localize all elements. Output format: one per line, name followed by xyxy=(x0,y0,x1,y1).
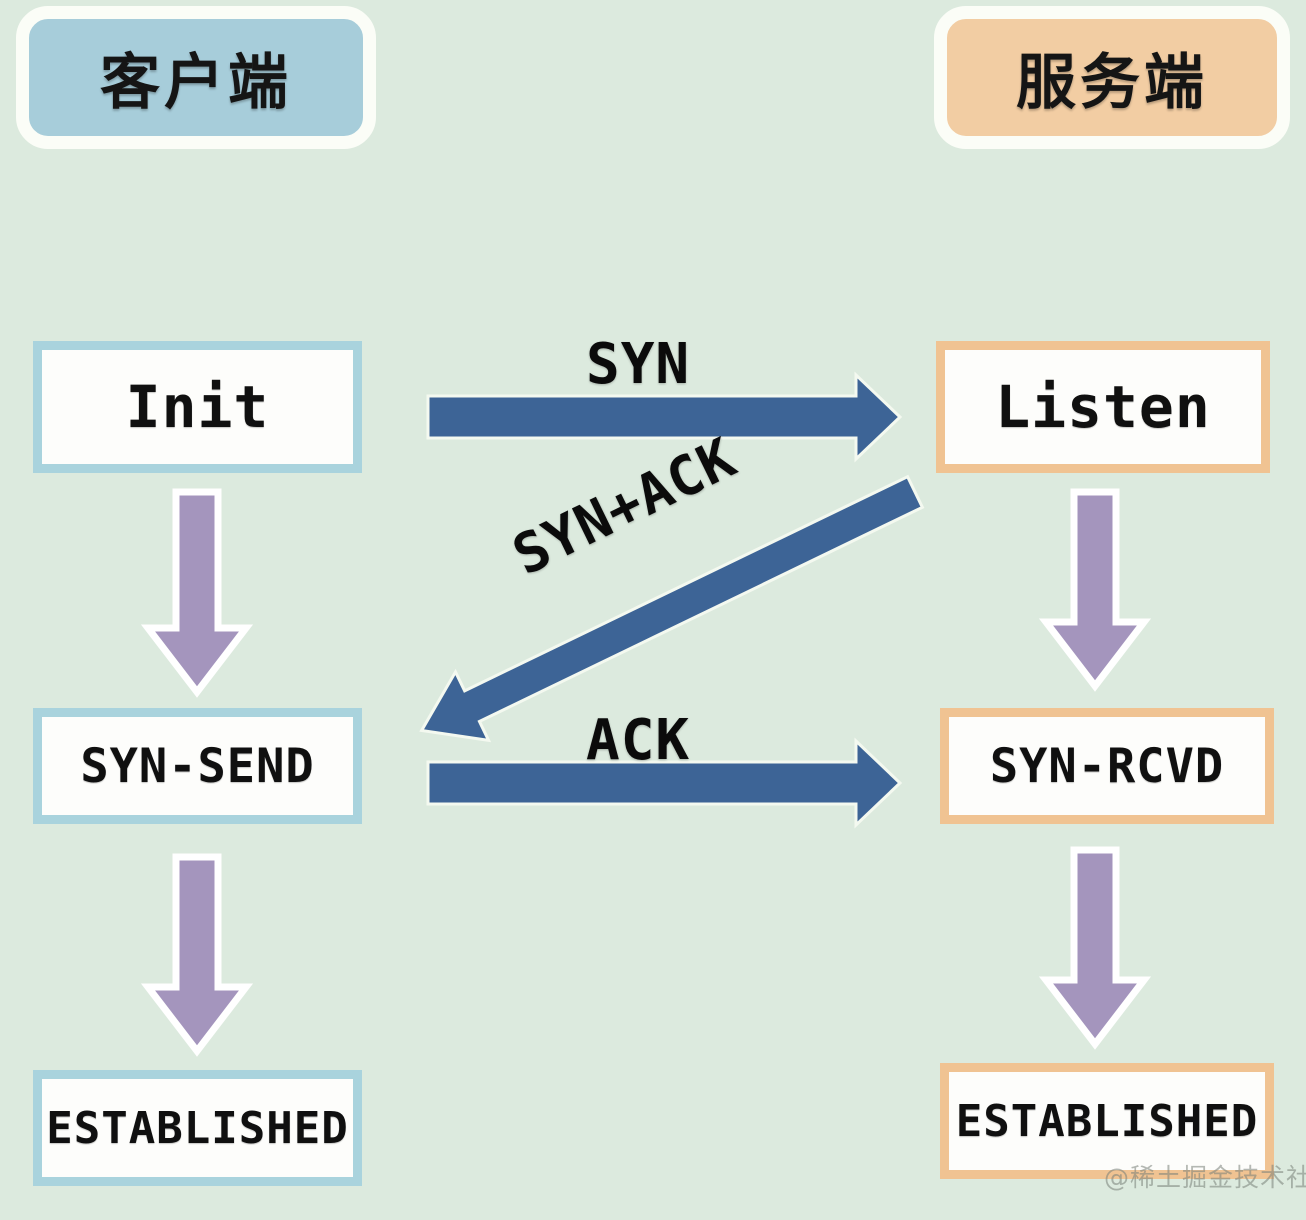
state-box-syn-send: SYN-SEND xyxy=(33,708,362,824)
arrow-transition-server-1 xyxy=(1046,492,1144,686)
state-box-syn-rcvd: SYN-RCVD xyxy=(940,708,1274,824)
header-server: 服务端 xyxy=(934,6,1290,149)
header-server-label: 服务端 xyxy=(1016,34,1208,121)
state-label: Listen xyxy=(995,373,1211,441)
state-label: SYN-RCVD xyxy=(990,739,1224,794)
state-box-listen: Listen xyxy=(936,341,1270,473)
state-label: ESTABLISHED xyxy=(46,1103,348,1154)
state-box-init: Init xyxy=(33,341,362,473)
message-label-syn-ack: SYN+ACK xyxy=(503,425,746,587)
arrow-transition-client-2 xyxy=(148,857,246,1051)
message-label-syn: SYN xyxy=(586,332,690,397)
arrow-layer xyxy=(0,0,1306,1220)
state-label: SYN-SEND xyxy=(80,739,314,794)
arrow-transition-client-1 xyxy=(148,492,246,692)
message-label-ack: ACK xyxy=(586,708,690,773)
header-client: 客户端 xyxy=(16,6,376,149)
diagram-canvas: 客户端 服务端 xyxy=(0,0,1306,1220)
watermark: @稀土掘金技术社区 xyxy=(1104,1158,1306,1194)
state-label: ESTABLISHED xyxy=(956,1096,1258,1147)
header-client-label: 客户端 xyxy=(100,34,292,121)
state-label: Init xyxy=(126,373,270,441)
arrow-transition-server-2 xyxy=(1046,850,1144,1044)
state-box-established-client: ESTABLISHED xyxy=(33,1070,362,1186)
